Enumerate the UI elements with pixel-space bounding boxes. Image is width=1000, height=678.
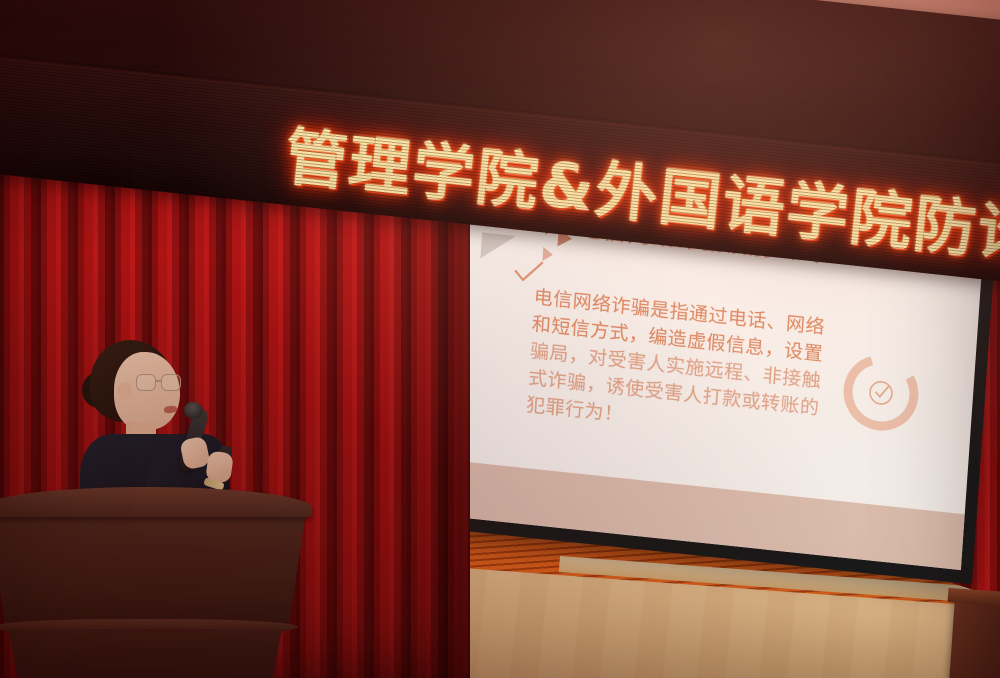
glasses-icon: [136, 374, 182, 392]
decor-triangle-icon: [480, 232, 516, 261]
podium-base: [8, 629, 282, 678]
slide-body-text: 电信网络诈骗是指通过电话、网络 和短信方式，编造虚假信息，设置 骗局，对受害人实…: [525, 284, 845, 451]
podium-body: [0, 511, 306, 631]
ear: [118, 382, 132, 400]
decor-triangle-icon: [542, 247, 553, 262]
check-mark-icon: [513, 258, 545, 285]
lecture-hall-scene: 电信网络诈骗识别公式 电信网络诈骗是指通过电话、网络 和短信方式，编造虚假信息，…: [0, 0, 1000, 678]
donut-progress-check-icon: [832, 342, 930, 443]
podium-top: [0, 487, 312, 517]
slide-footer-band: [440, 460, 964, 571]
podium: [0, 487, 312, 678]
side-table: [949, 594, 1000, 678]
